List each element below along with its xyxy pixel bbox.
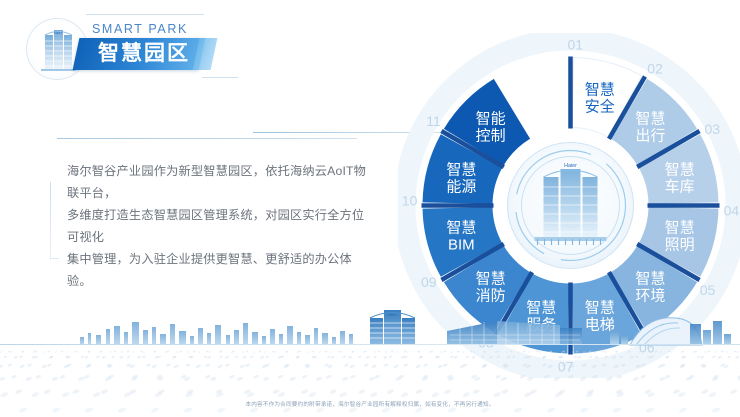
segment-label-09: 智慧BIM — [446, 219, 476, 254]
haier-tower-building-icon: Haier — [41, 30, 76, 71]
segment-number-04: 04 — [724, 202, 740, 218]
hub-brand-mark: Haier — [564, 163, 577, 169]
brand-mark-logo: Haier — [54, 31, 63, 35]
segment-number-10: 10 — [402, 193, 418, 209]
skyline-brand-mark: Haier — [387, 312, 397, 317]
header-rule-right — [202, 77, 238, 78]
slide-canvas: Haier SMART PARK 智慧园区 海尔智谷产业园作为新型智慧园区，依托… — [0, 0, 740, 417]
segment-label-02: 智慧出行 — [635, 110, 665, 145]
segment-label-04: 智慧照明 — [665, 219, 695, 254]
intro-line-1: 海尔智谷产业园作为新型智慧园区，依托海纳云AoIT物联平台， — [67, 160, 367, 204]
skyline-far-blocks — [80, 322, 353, 345]
ground-line — [0, 344, 740, 345]
intro-paragraph: 海尔智谷产业园作为新型智慧园区，依托海纳云AoIT物联平台， 多维度打造生态智慧… — [67, 160, 367, 292]
segment-number-02: 02 — [647, 61, 663, 77]
skyline-hero-tower: Haier — [370, 310, 415, 345]
segment-label-11: 智能控制 — [476, 110, 506, 145]
segment-number-03: 03 — [704, 121, 720, 137]
skyline-right-structures — [610, 318, 731, 345]
footer-disclaimer: 本内容不作为合同要约的附带承诺，海尔智谷产业园所有解释权归属，如有变化，不再另行… — [0, 400, 740, 408]
page-title: 智慧园区 — [84, 41, 204, 67]
text-bracket-line — [50, 182, 51, 260]
text-bracket-tip — [50, 258, 59, 259]
divider-lower — [57, 138, 357, 139]
segment-number-11: 11 — [426, 113, 441, 129]
intro-line-3: 集中管理，为入驻企业提供更智慧、更舒适的办公体验。 — [67, 248, 367, 292]
segment-label-10: 智慧能源 — [446, 160, 476, 195]
segment-label-01: 智慧安全 — [585, 80, 615, 115]
eyebrow-smart-park: SMART PARK — [92, 22, 188, 36]
city-skyline-graphic: Haier — [0, 288, 740, 417]
segment-number-01: 01 — [567, 37, 583, 53]
skyline-mid-buildings — [447, 321, 582, 345]
header-rule-top — [86, 14, 204, 15]
segment-label-03: 智慧车库 — [665, 160, 695, 195]
intro-line-2: 多维度打造生态智慧园区管理系统，对园区实行全方位可视化 — [67, 204, 367, 248]
